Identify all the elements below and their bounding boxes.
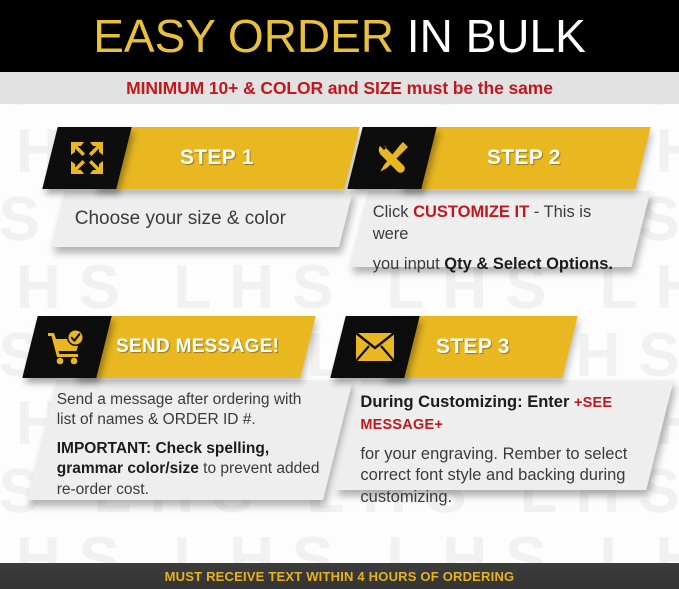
body-line: Send a message after ordering with list …	[57, 390, 321, 431]
card-step1: STEP 1 Choose your size & color	[50, 127, 350, 247]
page-title: EASY ORDER IN BULK	[93, 13, 586, 59]
card-step3-body-text: During Customizing: Enter +SEE MESSAGE+f…	[344, 380, 656, 519]
card-step2: STEP 2	[355, 127, 655, 267]
body-segment: Choose your size & color	[75, 208, 286, 229]
cart-check-icon	[30, 316, 104, 378]
card-send-message-badge-label: SEND MESSAGE!	[116, 336, 279, 358]
subheader-text: MINIMUM 10+ & COLOR and SIZE must be the…	[126, 78, 553, 99]
card-step1-icon-box	[42, 127, 131, 189]
subheader-bar: MINIMUM 10+ & COLOR and SIZE must be the…	[0, 72, 679, 104]
steps-stage: STEP 1 Choose your size & color	[0, 104, 679, 555]
card-step3-badge-label: STEP 3	[436, 335, 510, 359]
footer-text: MUST RECEIVE TEXT WITHIN 4 HOURS OF ORDE…	[165, 569, 515, 584]
body-line: IMPORTANT: Check spelling, grammar color…	[57, 439, 321, 500]
body-line: Choose your size & color	[75, 206, 331, 231]
card-step2-badge-strip: STEP 2	[399, 127, 650, 189]
card-step1-banner: STEP 1	[50, 127, 350, 189]
page-title-gold: EASY ORDER	[93, 10, 394, 62]
body-segment: CUSTOMIZE IT	[413, 203, 529, 221]
footer-bar: MUST RECEIVE TEXT WITHIN 4 HOURS OF ORDE…	[0, 563, 679, 589]
body-segment: Qty & Select Options.	[444, 255, 613, 273]
card-step2-icon-box	[347, 127, 436, 189]
card-step3: STEP 3 During Customizing: Enter +SEE ME…	[338, 316, 658, 490]
card-step2-banner: STEP 2	[355, 127, 655, 189]
body-segment: you input	[373, 255, 445, 273]
expand-arrows-icon	[50, 127, 124, 189]
wrench-pencil-icon	[355, 127, 429, 189]
body-line: you input Qty & Select Options.	[373, 254, 623, 276]
body-segment: for your engraving. Rember to select cor…	[360, 445, 627, 507]
card-send-message-body: Send a message after ordering with list …	[27, 380, 353, 500]
body-line: for your engraving. Rember to select cor…	[360, 444, 640, 509]
body-segment: During Customizing: Enter	[360, 393, 574, 411]
envelope-icon	[338, 316, 412, 378]
card-step3-body: During Customizing: Enter +SEE MESSAGE+f…	[334, 380, 673, 490]
page-title-white: IN BULK	[394, 10, 586, 62]
card-send-message-icon-box	[22, 316, 111, 378]
card-send-message: SEND MESSAGE!	[30, 316, 340, 500]
card-step3-icon-box	[330, 316, 419, 378]
card-send-message-body-text: Send a message after ordering with list …	[41, 380, 337, 510]
card-step1-body: Choose your size & color	[51, 191, 353, 247]
card-step2-badge-label: STEP 2	[487, 146, 561, 170]
card-step1-body-text: Choose your size & color	[59, 191, 347, 241]
card-send-message-badge-strip: SEND MESSAGE!	[74, 316, 315, 378]
card-step1-badge-strip: STEP 1	[94, 127, 359, 189]
card-step2-body-text: Click CUSTOMIZE IT - This is wereyou inp…	[357, 191, 639, 285]
card-step3-banner: STEP 3	[338, 316, 658, 378]
body-segment: Click	[373, 203, 413, 221]
body-line: During Customizing: Enter +SEE MESSAGE+	[360, 392, 640, 436]
body-segment: Send a message after ordering with list …	[57, 391, 302, 428]
card-step2-body: Click CUSTOMIZE IT - This is wereyou inp…	[350, 191, 651, 267]
body-line: Click CUSTOMIZE IT - This is were	[373, 202, 623, 246]
card-send-message-banner: SEND MESSAGE!	[30, 316, 340, 378]
header-banner: EASY ORDER IN BULK	[0, 0, 679, 72]
card-step1-badge-label: STEP 1	[180, 146, 254, 170]
